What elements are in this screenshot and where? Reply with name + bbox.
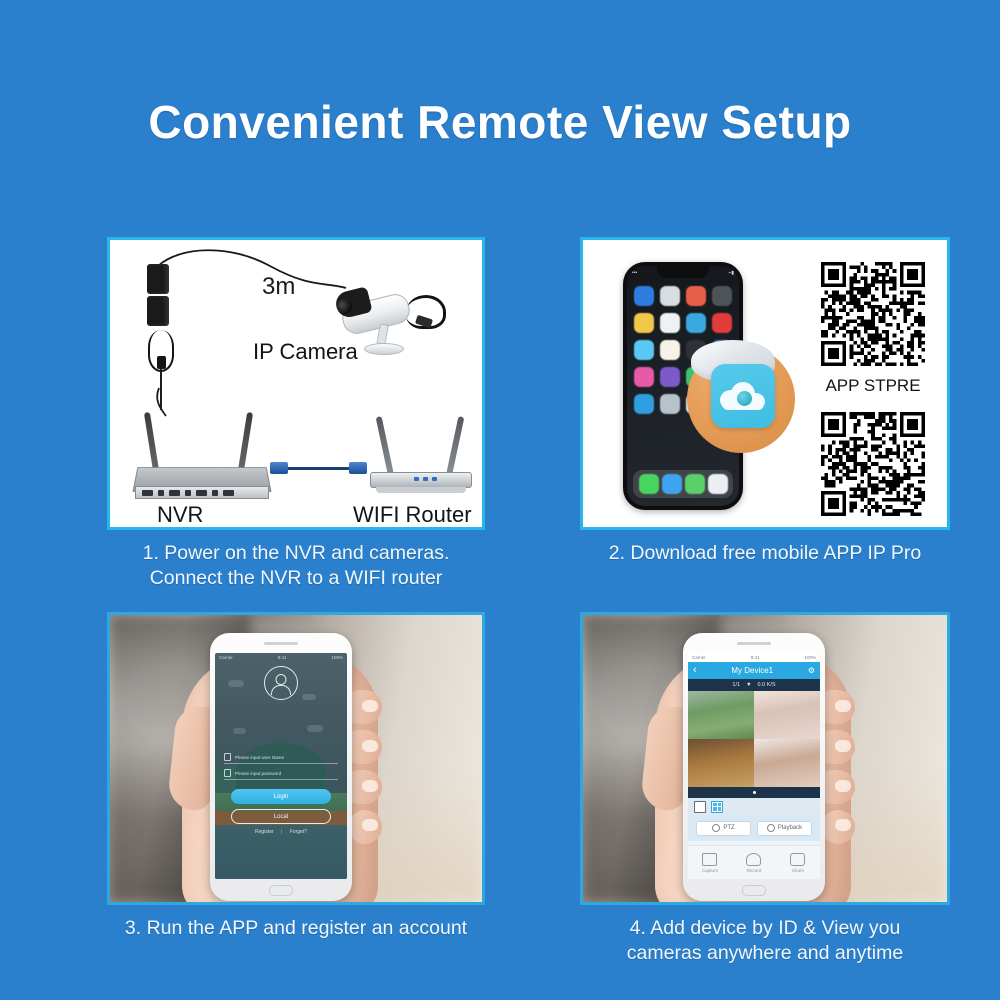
- bottom-tab-bar: Capture Record Share: [688, 845, 820, 879]
- app-download-illustration: •••⌁▮: [583, 240, 947, 527]
- step-3-caption: 3. Run the APP and register an account: [107, 916, 485, 941]
- globe-icon: [737, 391, 752, 406]
- status-battery: 100%: [331, 655, 343, 660]
- playback-button[interactable]: Playback: [757, 821, 812, 836]
- page-title: Convenient Remote View Setup: [0, 95, 1000, 149]
- camera-tile[interactable]: [754, 739, 820, 787]
- wifi-router-icon: [362, 410, 480, 500]
- ptz-label: PTZ: [723, 825, 734, 831]
- device-title: My Device1: [731, 666, 773, 675]
- page-indicator: 1/1: [732, 682, 740, 688]
- quad-view-button[interactable]: [711, 801, 723, 813]
- earpiece-speaker: [737, 642, 771, 645]
- step-3-image-panel: Carrier 9:41 100% Please input user Name: [107, 612, 485, 905]
- hand-holding-phone-photo-login: Carrier 9:41 100% Please input user Name: [110, 615, 482, 902]
- camera-icon: [702, 853, 717, 866]
- nvr-icon: [132, 408, 272, 498]
- camera-grid: [688, 691, 820, 787]
- login-screen: Carrier 9:41 100% Please input user Name: [215, 653, 347, 879]
- tab-share[interactable]: Share: [776, 853, 820, 873]
- device-subbar: 1/1 ▼ 0.0 K/S: [688, 679, 820, 691]
- qr-code-column: APP STPRE Google play: [809, 258, 937, 530]
- status-time: 9:41: [278, 655, 287, 660]
- tab-record[interactable]: Record: [732, 853, 776, 873]
- back-chevron-icon[interactable]: ‹: [693, 665, 697, 676]
- page-dots: [688, 787, 820, 798]
- qr-label-app-store: APP STPRE: [809, 376, 937, 396]
- username-placeholder: Please input user Name: [235, 755, 284, 760]
- camera-tile[interactable]: [688, 739, 754, 787]
- step-2: •••⌁▮: [580, 237, 950, 566]
- settings-icon[interactable]: ⚙: [808, 666, 815, 675]
- wifi-router-label: WIFI Router: [353, 502, 472, 528]
- tab-capture[interactable]: Capture: [688, 853, 732, 873]
- step-3: Carrier 9:41 100% Please input user Name: [107, 612, 485, 941]
- step-1-caption-line2: Connect the NVR to a WIFI router: [107, 566, 485, 591]
- home-button[interactable]: [742, 885, 766, 896]
- nvr-label: NVR: [157, 502, 203, 528]
- auth-links: Register | Forget?: [215, 829, 347, 835]
- login-button[interactable]: Login: [231, 789, 331, 804]
- hand-holding-phone-photo-device: Carrier 9:41 100% ‹ My Device1 ⚙ 1/1: [583, 615, 947, 902]
- qr-label-google-play: Google play: [809, 526, 937, 530]
- qr-code-app-store[interactable]: [817, 258, 929, 370]
- cable-length-label: 3m: [262, 273, 295, 301]
- tab-record-label: Record: [747, 868, 762, 873]
- password-field[interactable]: Please input password: [224, 767, 338, 780]
- playback-icon: [767, 824, 775, 832]
- user-avatar-icon: [264, 666, 298, 700]
- step-1-image-panel: 3m IP Camera N: [107, 237, 485, 530]
- user-icon: [224, 753, 231, 761]
- home-button[interactable]: [269, 885, 293, 896]
- ptz-button[interactable]: PTZ: [696, 821, 751, 836]
- qr-code-google-play[interactable]: [817, 408, 929, 520]
- tab-share-label: Share: [792, 868, 804, 873]
- cloud-icon: [720, 382, 766, 410]
- camera-tile[interactable]: [754, 691, 820, 739]
- playback-label: Playback: [778, 825, 802, 831]
- device-header: ‹ My Device1 ⚙: [688, 662, 820, 679]
- notch: [657, 266, 709, 278]
- step-4: Carrier 9:41 100% ‹ My Device1 ⚙ 1/1: [580, 612, 950, 966]
- wifi-icon: ▼: [746, 682, 751, 688]
- power-adapter-icon: [147, 264, 169, 328]
- step-2-image-panel: •••⌁▮: [580, 237, 950, 530]
- view-mode-bar: [688, 798, 820, 815]
- smartphone-mockup-login: Carrier 9:41 100% Please input user Name: [210, 633, 352, 901]
- step-4-image-panel: Carrier 9:41 100% ‹ My Device1 ⚙ 1/1: [580, 612, 950, 905]
- step-4-caption: 4. Add device by ID & View you cameras a…: [580, 916, 950, 966]
- signal-rate: 0.0 K/S: [758, 682, 776, 688]
- username-field[interactable]: Please input user Name: [224, 751, 338, 764]
- status-time: 9:41: [751, 655, 760, 660]
- record-icon: [746, 853, 761, 866]
- tab-capture-label: Capture: [702, 868, 718, 873]
- register-link[interactable]: Register: [255, 829, 274, 835]
- ptz-icon: [712, 824, 720, 832]
- password-placeholder: Please input password: [235, 771, 281, 776]
- step-4-caption-line1: 4. Add device by ID & View you: [580, 916, 950, 941]
- lock-icon: [224, 769, 231, 777]
- step-1-caption-line1: 1. Power on the NVR and cameras.: [107, 541, 485, 566]
- status-carrier: Carrier: [219, 655, 233, 660]
- status-carrier: Carrier: [692, 655, 706, 660]
- device-view-screen: Carrier 9:41 100% ‹ My Device1 ⚙ 1/1: [688, 653, 820, 879]
- step-1-caption: 1. Power on the NVR and cameras. Connect…: [107, 541, 485, 591]
- step-3-caption-line1: 3. Run the APP and register an account: [107, 916, 485, 941]
- iphone-dock: [633, 470, 733, 498]
- single-view-button[interactable]: [694, 801, 706, 813]
- step-1: 3m IP Camera N: [107, 237, 485, 591]
- ethernet-cable-icon: [270, 462, 367, 474]
- ip-pro-app-icon: [711, 364, 775, 428]
- step-2-caption-line1: 2. Download free mobile APP IP Pro: [580, 541, 950, 566]
- forget-link[interactable]: Forget?: [290, 829, 307, 835]
- network-diagram: 3m IP Camera N: [110, 240, 482, 527]
- login-status-bar: Carrier 9:41 100%: [215, 653, 347, 662]
- device-status-bar: Carrier 9:41 100%: [688, 653, 820, 662]
- control-bar: PTZ Playback: [688, 815, 820, 841]
- camera-tile[interactable]: [688, 691, 754, 739]
- earpiece-speaker: [264, 642, 298, 645]
- step-4-caption-line2: cameras anywhere and anytime: [580, 941, 950, 966]
- local-button[interactable]: Local: [231, 809, 331, 824]
- share-icon: [790, 853, 805, 866]
- status-battery: 100%: [804, 655, 816, 660]
- ip-camera-label: IP Camera: [253, 339, 358, 365]
- smartphone-mockup-device: Carrier 9:41 100% ‹ My Device1 ⚙ 1/1: [683, 633, 825, 901]
- step-2-caption: 2. Download free mobile APP IP Pro: [580, 541, 950, 566]
